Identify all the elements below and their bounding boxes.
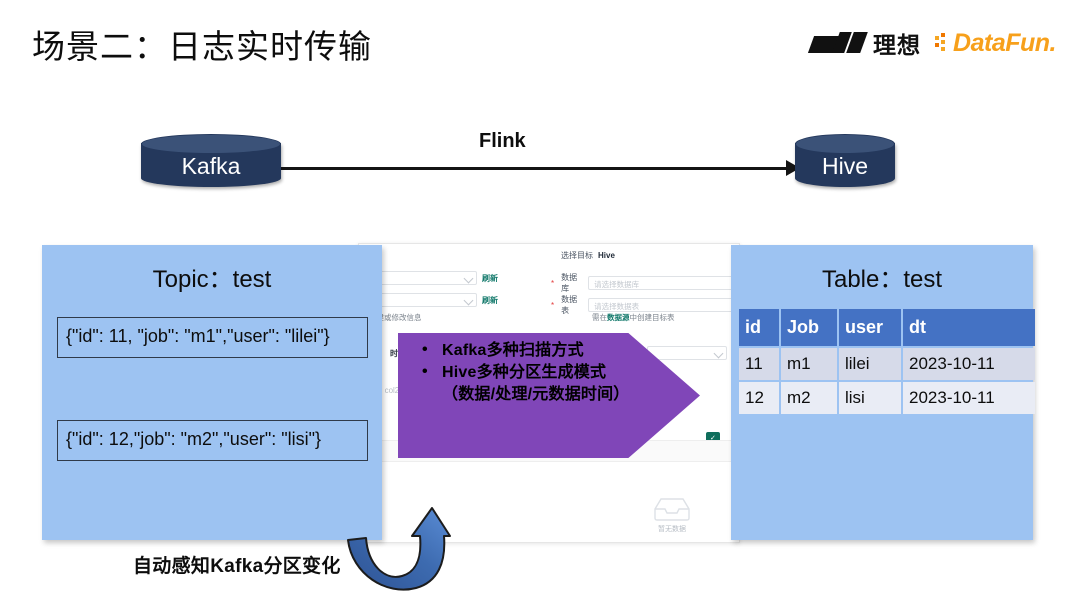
bg-database-field[interactable]: * 数据库 请选择数据库 bbox=[551, 272, 740, 294]
curved-up-arrow-icon bbox=[346, 492, 451, 598]
topic-panel: Topic：test {"id": 11, "job": "m1","user"… bbox=[42, 245, 382, 540]
bg-refresh-link-1[interactable]: 刷新 bbox=[482, 273, 498, 284]
cell-id: 11 bbox=[739, 348, 779, 380]
bg-hint-prefix: 需在 bbox=[592, 313, 607, 322]
chevron-down-icon bbox=[464, 274, 474, 284]
datafun-logo: DataFun. bbox=[935, 29, 1056, 58]
callout-bullet-2: Hive多种分区生成模式 bbox=[420, 362, 700, 383]
liauto-logo-text: 理想 bbox=[873, 26, 921, 60]
hive-cylinder: Hive bbox=[795, 134, 895, 192]
brand-bar: 理想 DataFun. bbox=[811, 26, 1056, 60]
bg-select-1[interactable] bbox=[369, 271, 477, 285]
topic-message-2: {"id": 12,"job": "m2","user": "lisi"} bbox=[57, 420, 368, 461]
cell-dt: 2023-10-11 bbox=[903, 382, 1035, 414]
chevron-down-icon bbox=[714, 349, 724, 359]
required-mark-icon: * bbox=[551, 279, 554, 288]
bg-empty-state: 暂无数据 bbox=[637, 496, 707, 534]
cell-dt: 2023-10-11 bbox=[903, 348, 1035, 380]
bg-database-select[interactable]: 请选择数据库 bbox=[588, 276, 740, 290]
column-header-job: Job bbox=[781, 309, 837, 346]
bg-database-placeholder: 请选择数据库 bbox=[594, 279, 639, 290]
inbox-empty-icon bbox=[651, 496, 693, 522]
column-header-dt: dt bbox=[903, 309, 1035, 346]
liauto-logo: 理想 bbox=[811, 26, 921, 60]
bg-hint-link[interactable]: 数据源 bbox=[607, 313, 630, 322]
result-table: id Job user dt 11 m1 lilei 2023-10-11 12… bbox=[737, 307, 1037, 416]
column-header-user: user bbox=[839, 309, 901, 346]
kafka-cylinder: Kafka bbox=[141, 134, 281, 192]
bg-select-2[interactable] bbox=[369, 293, 477, 307]
required-mark-icon: * bbox=[551, 301, 554, 310]
page-title: 场景二：日志实时传输 bbox=[32, 20, 372, 68]
hive-label: Hive bbox=[795, 146, 895, 186]
topic-panel-title: Topic：test bbox=[42, 259, 382, 294]
cell-job: m2 bbox=[781, 382, 837, 414]
bg-database-label: 数据库 bbox=[561, 272, 583, 294]
bg-target-label: 选择目标 bbox=[561, 250, 593, 261]
table-header-row: id Job user dt bbox=[739, 309, 1035, 346]
bg-datatable-select[interactable]: 请选择数据表 bbox=[588, 298, 740, 312]
cell-user: lilei bbox=[839, 348, 901, 380]
callout-bullet-3: （数据/处理/元数据时间） bbox=[420, 384, 700, 405]
flow-connector-line bbox=[281, 167, 801, 170]
flink-label: Flink bbox=[479, 130, 526, 153]
table-row: 12 m2 lisi 2023-10-11 bbox=[739, 382, 1035, 414]
bottom-note-text: 自动感知Kafka分区变化 bbox=[133, 551, 341, 578]
bg-empty-text: 暂无数据 bbox=[658, 526, 686, 533]
bg-datatable-label: 数据表 bbox=[561, 294, 583, 316]
bg-left-select-row-2[interactable]: 刷新 bbox=[369, 293, 498, 307]
topic-message-1: {"id": 11, "job": "m1","user": "lilei"} bbox=[57, 317, 368, 358]
bg-target-value: Hive bbox=[598, 251, 615, 260]
cell-user: lisi bbox=[839, 382, 901, 414]
datafun-dots-icon bbox=[935, 33, 950, 53]
kafka-label: Kafka bbox=[141, 146, 281, 186]
datafun-logo-text: DataFun. bbox=[953, 29, 1056, 58]
bg-refresh-link-2[interactable]: 刷新 bbox=[482, 295, 498, 306]
column-header-id: id bbox=[739, 309, 779, 346]
table-panel-title: Table：test bbox=[731, 259, 1033, 294]
bg-target-row: 选择目标 Hive bbox=[561, 250, 615, 261]
table-row: 11 m1 lilei 2023-10-11 bbox=[739, 348, 1035, 380]
bg-left-select-row-1[interactable]: 刷新 bbox=[369, 271, 498, 285]
table-panel: Table：test id Job user dt 11 m1 lilei 20… bbox=[731, 245, 1033, 540]
li-auto-logo-icon bbox=[811, 32, 865, 54]
bg-hint-suffix: 中创建目标表 bbox=[630, 313, 675, 322]
chevron-down-icon bbox=[464, 296, 474, 306]
cell-id: 12 bbox=[739, 382, 779, 414]
cell-job: m1 bbox=[781, 348, 837, 380]
bg-create-hint: 需在数据源中创建目标表 bbox=[592, 312, 675, 323]
bg-datatable-placeholder: 请选择数据表 bbox=[594, 301, 639, 312]
bg-right-select[interactable] bbox=[647, 346, 727, 360]
